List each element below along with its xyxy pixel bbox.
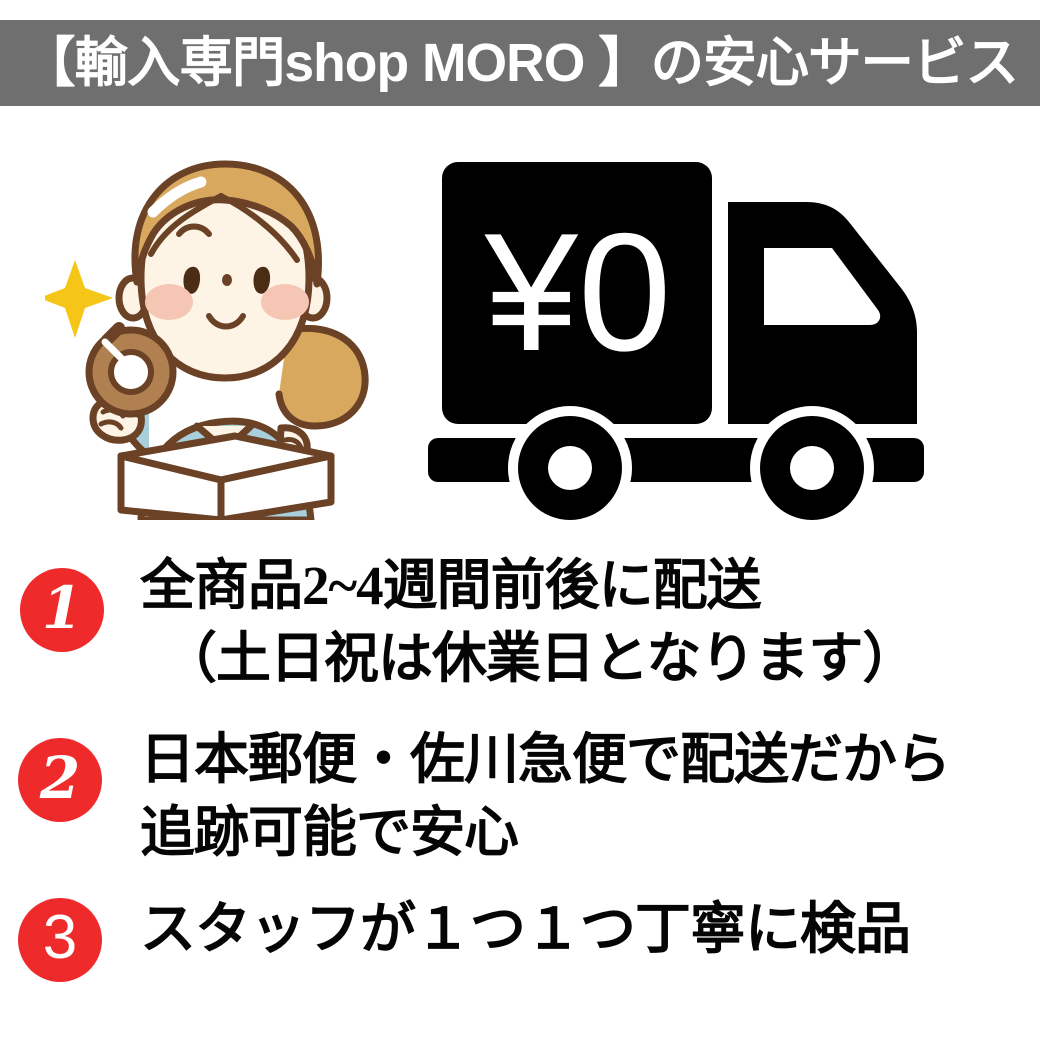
service-item-3: 3 スタッフが１つ１つ丁寧に検品 xyxy=(0,890,1040,1020)
service-badge-3-number: 3 xyxy=(43,907,77,969)
service-item-3-text: スタッフが１つ１つ丁寧に検品 xyxy=(140,894,910,968)
service-item-1-line-2: （土日祝は休業日となります） xyxy=(140,623,916,696)
shipping-service-infographic: 【輸入専門shop MORO 】の安心サービス xyxy=(0,0,1040,1040)
service-list: 1 全商品2~4週間前後に配送 （土日祝は休業日となります） 2 日本郵便・佐川… xyxy=(0,540,1040,1020)
service-item-2-line-1: 日本郵便・佐川急便で配送だから xyxy=(140,724,950,797)
service-item-2: 2 日本郵便・佐川急便で配送だから 追跡可能で安心 xyxy=(0,720,1040,890)
service-item-1-text: 全商品2~4週間前後に配送 （土日祝は休業日となります） xyxy=(140,550,916,695)
service-badge-3: 3 xyxy=(18,898,102,982)
service-item-2-line-2: 追跡可能で安心 xyxy=(140,797,950,870)
service-badge-2-number: 2 xyxy=(40,749,80,807)
woman-inspecting-package-illustration xyxy=(45,150,395,520)
service-badge-1-number: 1 xyxy=(42,579,82,637)
delivery-truck-icon: ¥0 xyxy=(420,150,980,520)
header-banner: 【輸入専門shop MORO 】の安心サービス xyxy=(0,20,1040,106)
illustration-row: ¥0 xyxy=(0,110,1040,530)
service-item-1: 1 全商品2~4週間前後に配送 （土日祝は休業日となります） xyxy=(0,540,1040,720)
sparkle-icon xyxy=(45,260,113,338)
banner-title: 【輸入専門shop MORO 】の安心サービス xyxy=(22,36,1018,90)
service-item-3-line-1: スタッフが１つ１つ丁寧に検品 xyxy=(140,894,910,968)
truck-cargo-label: ¥0 xyxy=(484,198,672,386)
service-badge-1: 1 xyxy=(20,568,104,652)
service-item-2-text: 日本郵便・佐川急便で配送だから 追跡可能で安心 xyxy=(140,724,950,869)
service-item-1-line-1: 全商品2~4週間前後に配送 xyxy=(140,550,916,623)
service-badge-2: 2 xyxy=(18,738,102,822)
